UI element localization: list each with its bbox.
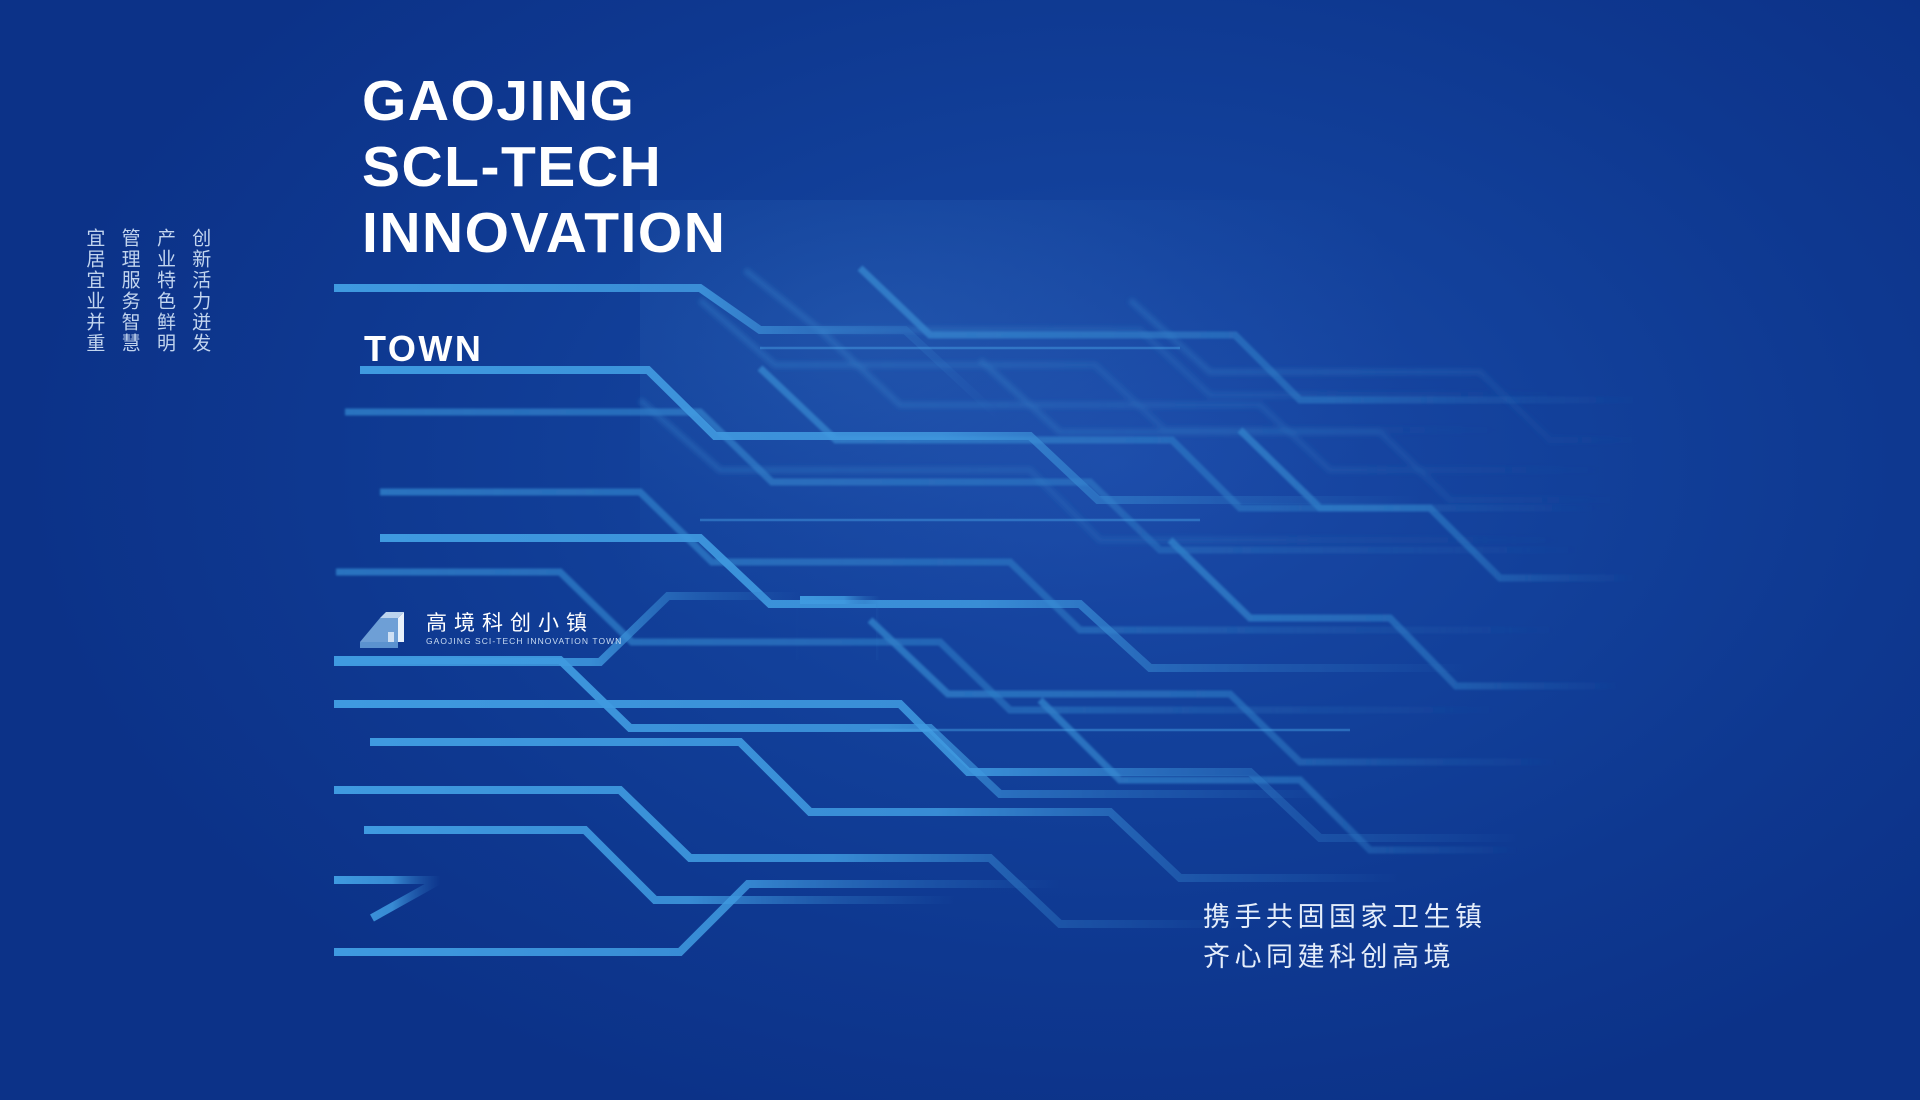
logo-english-name: GAOJING SCI-TECH INNOVATION TOWN <box>426 637 622 646</box>
vertical-slogan-column-1: 创新活力迸发 <box>188 228 212 354</box>
vertical-slogan-column-2: 产业特色鲜明 <box>153 228 177 354</box>
title-line-1: GAOJING <box>362 68 726 134</box>
vertical-slogan-column-3: 管理服务智慧 <box>117 228 141 354</box>
bottom-slogan-line-1: 携手共固国家卫生镇 <box>1203 898 1487 938</box>
vertical-slogan-column-4: 宜居宜业并重 <box>82 228 106 354</box>
logo-chinese-name: 高境科创小镇 <box>426 613 622 634</box>
logo-text-group: 高境科创小镇 GAOJING SCI-TECH INNOVATION TOWN <box>426 613 622 646</box>
house-building-icon <box>358 608 414 650</box>
poster-canvas: GAOJING SCL-TECH INNOVATION TOWN 创新活力迸发 … <box>0 0 1920 1100</box>
bottom-slogan: 携手共固国家卫生镇 齐心同建科创高境 <box>1203 898 1487 978</box>
page-title: GAOJING SCL-TECH INNOVATION <box>362 68 726 266</box>
title-line-3: INNOVATION <box>362 200 726 266</box>
bottom-slogan-line-2: 齐心同建科创高境 <box>1203 938 1487 978</box>
circuit-trace-background <box>0 0 1920 1100</box>
vertical-slogan: 创新活力迸发 产业特色鲜明 管理服务智慧 宜居宜业并重 <box>82 228 212 354</box>
logo-lockup: 高境科创小镇 GAOJING SCI-TECH INNOVATION TOWN <box>358 608 622 650</box>
title-line-2: SCL-TECH <box>362 134 726 200</box>
title-subtitle-town: TOWN <box>364 328 483 370</box>
